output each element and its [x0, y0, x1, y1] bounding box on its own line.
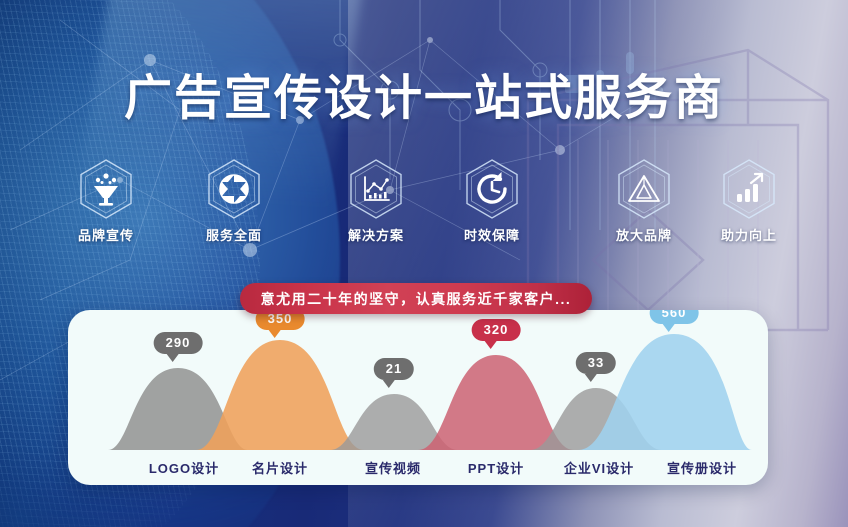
value-bubble-group: 290 350 21 320 33 560 [68, 310, 768, 450]
value-text: 21 [374, 358, 414, 380]
tagline-ribbon: 意尤用二十年的坚守，认真服务近千家客户... [240, 283, 592, 314]
category-label-row: LOGO设计 名片设计 宣传视频 PPT设计 企业VI设计 宣传册设计 [68, 450, 768, 485]
bubble-tail [663, 324, 675, 332]
triangle-pyramid-icon [613, 158, 675, 220]
bubble-tail [383, 380, 395, 388]
bar-chart-up-icon [718, 158, 780, 220]
feature-label: 解决方案 [328, 225, 424, 244]
feature-label: 助力向上 [701, 225, 797, 244]
aperture-icon [203, 158, 265, 220]
category-label-booklet: 宣传册设计 [667, 458, 737, 477]
bubble-tail [167, 354, 179, 362]
feature-label: 品牌宣传 [58, 225, 154, 244]
page-title: 广告宣传设计一站式服务商 [0, 58, 848, 128]
value-bubble-video: 21 [374, 358, 414, 388]
value-text: 560 [650, 310, 699, 324]
value-text: 290 [154, 332, 203, 354]
chart-network-icon [345, 158, 407, 220]
bubble-tail [485, 341, 497, 349]
feature-item-full-service[interactable]: 服务全面 [186, 158, 282, 244]
category-label-vi: 企业VI设计 [564, 458, 634, 477]
tagline-text: 意尤用二十年的坚守，认真服务近千家客户... [261, 289, 572, 309]
feature-icon-row: 品牌宣传 服务全面 [56, 158, 796, 250]
value-bubble-logo: 290 [154, 332, 203, 362]
feature-label: 服务全面 [186, 225, 282, 244]
value-bubble-vi: 33 [576, 352, 616, 382]
category-label-logo: LOGO设计 [149, 458, 219, 477]
category-label-ppt: PPT设计 [468, 458, 524, 477]
poster-canvas: 广告宣传设计一站式服务商 品牌宣传 [0, 0, 848, 527]
feature-item-brand-promotion[interactable]: 品牌宣传 [58, 158, 154, 244]
clock-rewind-icon [461, 158, 523, 220]
value-text: 320 [472, 319, 521, 341]
feature-label: 放大品牌 [596, 225, 692, 244]
value-bubble-mingpian: 350 [256, 310, 305, 338]
category-label-video: 宣传视频 [365, 458, 421, 477]
feature-item-solutions[interactable]: 解决方案 [328, 158, 424, 244]
megaphone-icon [75, 158, 137, 220]
feature-item-timeliness[interactable]: 时效保障 [444, 158, 540, 244]
value-bubble-ppt: 320 [472, 319, 521, 349]
feature-item-boost-upward[interactable]: 助力向上 [701, 158, 797, 244]
bubble-tail [585, 374, 597, 382]
bubble-tail [269, 330, 281, 338]
category-label-mingpian: 名片设计 [252, 458, 308, 477]
feature-item-amplify-brand[interactable]: 放大品牌 [596, 158, 692, 244]
statistics-card: 290 350 21 320 33 560 [68, 310, 768, 485]
value-text: 33 [576, 352, 616, 374]
value-bubble-booklet: 560 [650, 310, 699, 332]
feature-label: 时效保障 [444, 225, 540, 244]
